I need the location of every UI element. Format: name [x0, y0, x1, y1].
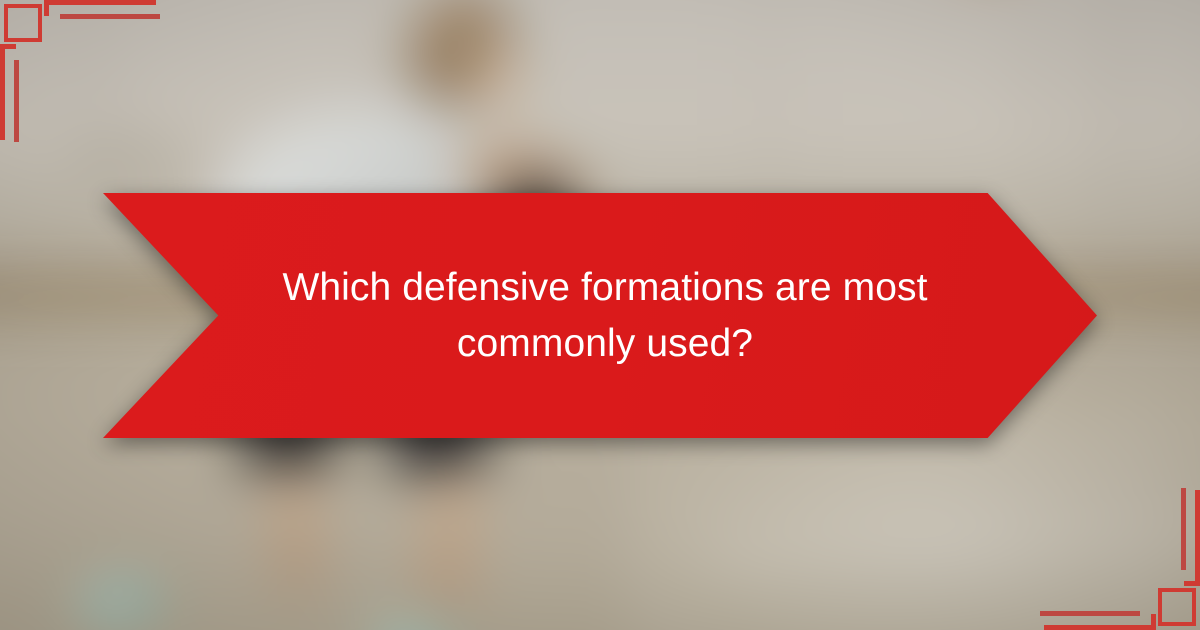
corner-line-left-outer — [0, 44, 5, 140]
headline-text: Which defensive formations are most comm… — [275, 260, 935, 372]
corner-line-bottom-outer — [1044, 625, 1156, 630]
corner-square-icon — [1158, 588, 1196, 626]
corner-line-top-inner — [60, 14, 160, 19]
corner-line-right-outer — [1195, 490, 1200, 586]
corner-bracket-bottom-right — [1030, 470, 1200, 630]
banner-card: Which defensive formations are most comm… — [0, 0, 1200, 630]
corner-line-top-outer — [44, 0, 156, 5]
corner-line-bottom-inner — [1040, 611, 1140, 616]
corner-line-left-inner — [14, 60, 19, 142]
corner-square-icon — [4, 4, 42, 42]
corner-line-right-inner — [1181, 488, 1186, 570]
corner-bracket-top-left — [0, 0, 170, 160]
ribbon-text-area: Which defensive formations are most comm… — [103, 193, 1097, 438]
headline-ribbon: Which defensive formations are most comm… — [103, 193, 1097, 438]
